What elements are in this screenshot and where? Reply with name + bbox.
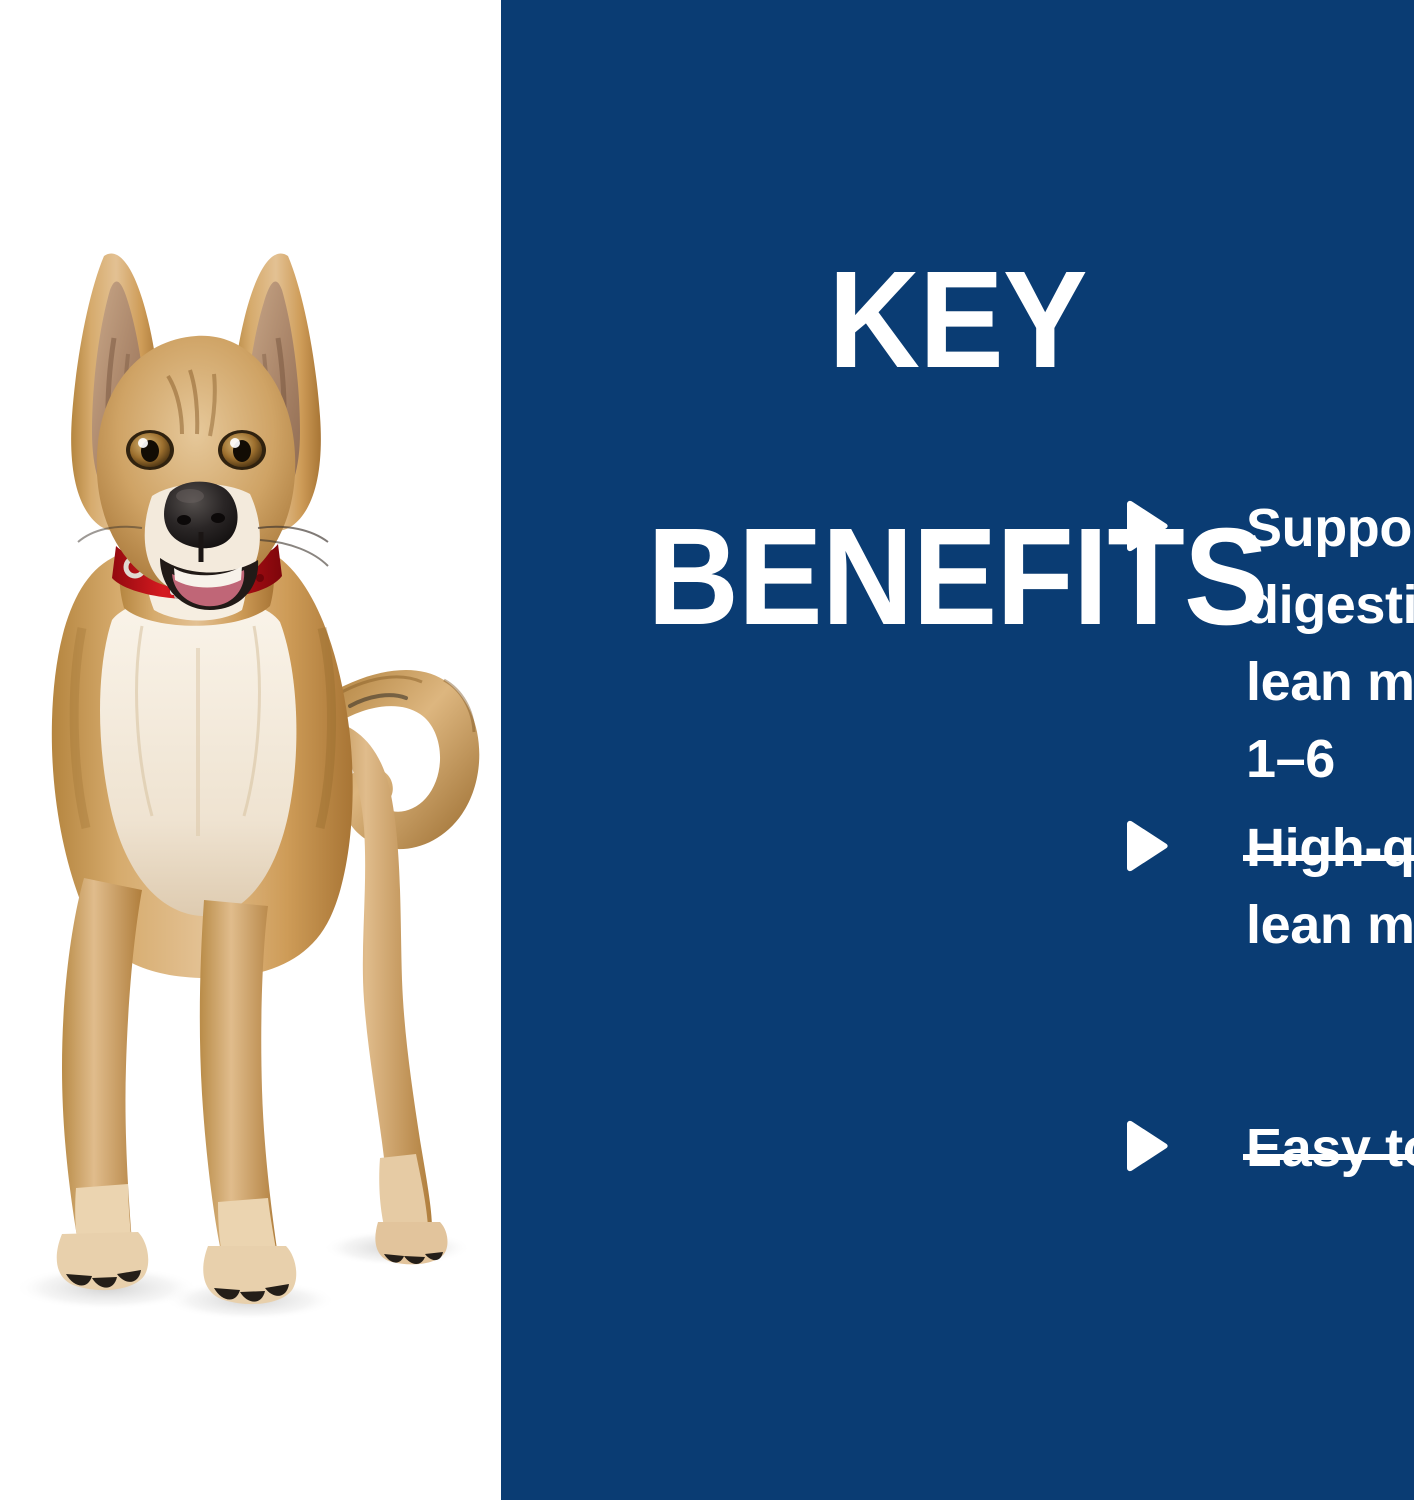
triangle-right-icon — [1121, 810, 1246, 872]
benefit-text-2: High-quality protein for lean muscles — [1246, 810, 1414, 964]
benefit-text-3: Easy to digest — [1246, 1110, 1414, 1187]
benefit-divider-2 — [1243, 1154, 1414, 1160]
benefit-text-1: Supports a healthy digestive system and … — [1246, 490, 1414, 798]
title-line-key: KEY — [538, 256, 1378, 384]
triangle-right-icon — [1121, 1110, 1246, 1172]
dog-photo-panel — [0, 0, 501, 1500]
key-benefits-panel-image: KEY BENEFITS Supports a healthy digestiv… — [0, 0, 1414, 1500]
key-benefits-panel: KEY BENEFITS Supports a healthy digestiv… — [501, 0, 1414, 1500]
benefit-item-3: Easy to digest — [1121, 1110, 1414, 1230]
benefit-divider-1 — [1243, 855, 1414, 861]
benefit-item-1: Supports a healthy digestive system and … — [1121, 490, 1414, 810]
dog-photo — [0, 228, 492, 1318]
triangle-right-icon — [1121, 490, 1246, 552]
